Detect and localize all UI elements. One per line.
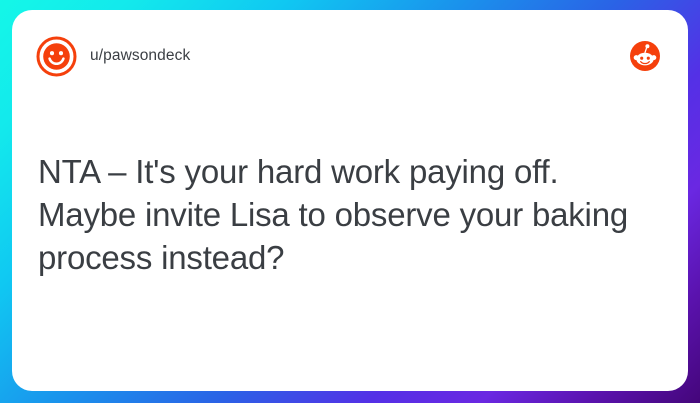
smiley-face-avatar-icon — [36, 36, 77, 77]
post-body-text: NTA – It's your hard work paying off. Ma… — [38, 150, 638, 279]
author-username: u/pawsondeck — [90, 47, 190, 65]
reddit-post-card: u/pawsondeck NTA – It's your hard — [12, 10, 688, 391]
post-author[interactable]: u/pawsondeck — [36, 36, 190, 77]
screenshot-stage: u/pawsondeck NTA – It's your hard — [0, 0, 700, 403]
post-header: u/pawsondeck — [12, 10, 688, 102]
reddit-snoo-icon[interactable] — [630, 41, 660, 71]
